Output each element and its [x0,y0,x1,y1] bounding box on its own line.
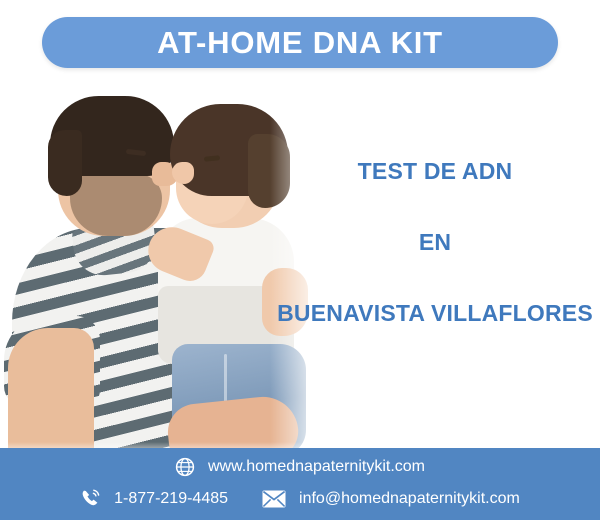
poster-canvas: AT-HOME DNA KIT [0,0,600,520]
footer-email-text: info@homednapaternitykit.com [299,491,520,507]
father-sideburn-icon [48,130,82,196]
globe-icon [175,457,195,477]
headline-line-3: BUENAVISTA VILLAFLORES [270,302,600,325]
envelope-icon [262,490,286,508]
footer-phone-item[interactable]: 1-877-219-4485 [80,488,228,509]
headline-block: TEST DE ADN EN BUENAVISTA VILLAFLORES [270,160,600,325]
child-nose-icon [172,162,194,184]
footer-contact-row: 1-877-219-4485 info@homednapaternitykit.… [0,488,600,509]
footer-website-text: www.homednapaternitykit.com [208,459,425,475]
headline-line-2: EN [270,231,600,254]
footer-website-item[interactable]: www.homednapaternitykit.com [175,457,425,477]
headline-line-1: TEST DE ADN [270,160,600,183]
father-beard-icon [70,174,162,236]
header-banner: AT-HOME DNA KIT [42,17,558,68]
footer-email-item[interactable]: info@homednapaternitykit.com [262,490,520,508]
father-arm-icon [8,328,94,460]
footer-website-row: www.homednapaternitykit.com [0,457,600,477]
header-title: AT-HOME DNA KIT [157,27,443,58]
footer-bar: www.homednapaternitykit.com 1-877-219-44… [0,448,600,520]
footer-phone-text: 1-877-219-4485 [114,491,228,507]
phone-icon [80,488,101,509]
